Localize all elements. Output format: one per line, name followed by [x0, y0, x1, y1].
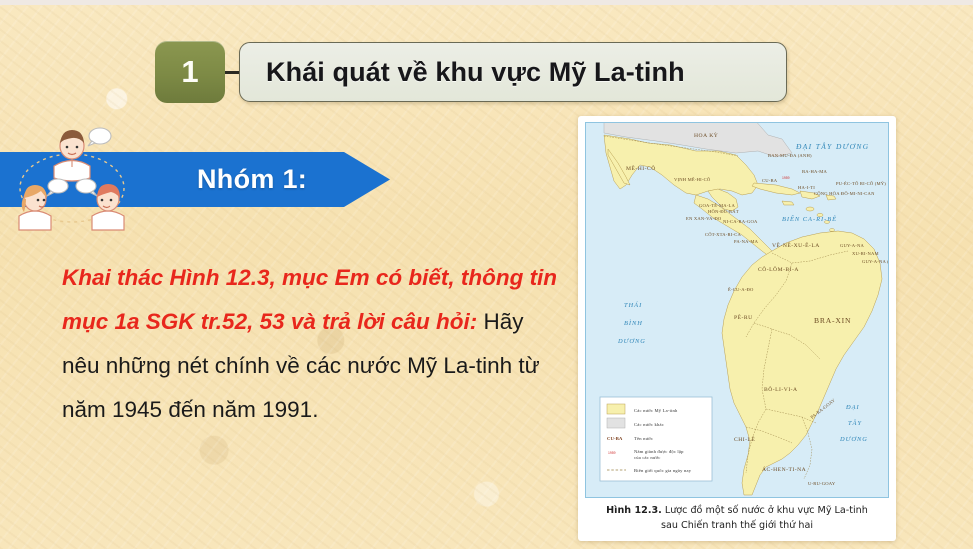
svg-text:Ê-CU-A-ĐO: Ê-CU-A-ĐO — [728, 287, 754, 292]
map-caption: Hình 12.3. Lược đồ một số nước ở khu vực… — [578, 500, 896, 541]
svg-text:VÊ-NÊ-XU-Ê-LA: VÊ-NÊ-XU-Ê-LA — [772, 241, 820, 249]
svg-text:BAN-MU-ĐA (ANH): BAN-MU-ĐA (ANH) — [768, 153, 812, 158]
map-legend: Các nước Mỹ La-tinh Các nước khác CU-BA … — [600, 397, 712, 481]
svg-text:BA-HA-MA: BA-HA-MA — [802, 169, 828, 174]
svg-text:DƯƠNG: DƯƠNG — [617, 338, 646, 345]
svg-text:CU-BA: CU-BA — [762, 178, 778, 183]
svg-text:NI-CA-RA-GOA: NI-CA-RA-GOA — [723, 219, 758, 224]
svg-text:PÊ-RU: PÊ-RU — [734, 313, 753, 321]
page-title: Khái quát về khu vực Mỹ La-tinh — [266, 57, 685, 88]
svg-text:của các nước: của các nước — [634, 455, 660, 460]
badge-connector-line — [225, 71, 239, 74]
section-number: 1 — [181, 54, 198, 90]
svg-text:CHI-LÊ: CHI-LÊ — [734, 435, 755, 443]
svg-text:GUY-A-NA: GUY-A-NA — [840, 243, 865, 248]
svg-text:Biên giới quốc gia ngày nay: Biên giới quốc gia ngày nay — [634, 468, 692, 473]
latin-america-map-image: .land{fill:#f7f0ad;stroke:#b99f52;stroke… — [585, 122, 889, 498]
svg-text:Các nước khác: Các nước khác — [634, 422, 664, 427]
svg-text:HOA KỲ: HOA KỲ — [694, 131, 718, 139]
svg-text:HA-I-TI: HA-I-TI — [798, 185, 815, 190]
svg-text:XU-RI-NAM: XU-RI-NAM — [852, 251, 879, 256]
svg-text:EN XAN-VA-ĐO: EN XAN-VA-ĐO — [686, 216, 722, 221]
svg-text:CÔ-LÔM-BI-A: CÔ-LÔM-BI-A — [758, 265, 799, 273]
svg-text:CỐT-XTA-RI-CA: CỐT-XTA-RI-CA — [705, 232, 741, 237]
svg-text:Năm giành được độc lập: Năm giành được độc lập — [634, 449, 684, 454]
task-paragraph: Khai thác Hình 12.3, mục Em có biết, thô… — [62, 256, 562, 432]
map-caption-line1: Lược đồ một số nước ở khu vực Mỹ La-tinh — [662, 505, 868, 516]
svg-text:ÁC-HEN-TI-NA: ÁC-HEN-TI-NA — [762, 465, 806, 473]
section-title-box: Khái quát về khu vực Mỹ La-tinh — [239, 42, 787, 102]
svg-text:1959: 1959 — [782, 176, 790, 180]
map-caption-figure: Hình 12.3. — [606, 505, 662, 516]
svg-text:HÔN-ĐU-RÁT: HÔN-ĐU-RÁT — [708, 209, 739, 214]
section-number-badge: 1 — [155, 41, 225, 103]
svg-text:BRA-XIN: BRA-XIN — [814, 316, 851, 325]
svg-text:BIỂN CA-RI-BÊ: BIỂN CA-RI-BÊ — [782, 215, 837, 223]
svg-text:VỊNH MÊ-HI-CÔ: VỊNH MÊ-HI-CÔ — [674, 177, 711, 182]
svg-text:Tên nước: Tên nước — [634, 436, 653, 441]
svg-text:CỘNG HÒA ĐÔ-MI-NI-CAN: CỘNG HÒA ĐÔ-MI-NI-CAN — [814, 191, 875, 196]
svg-text:MÊ-HI-CÔ: MÊ-HI-CÔ — [626, 164, 656, 172]
svg-text:PU-ÉC-TÔ RI-CÔ (MỸ): PU-ÉC-TÔ RI-CÔ (MỸ) — [836, 181, 886, 186]
group-banner-label: Nhóm 1: — [197, 152, 307, 207]
svg-text:U-RU-GOAY: U-RU-GOAY — [808, 481, 836, 486]
svg-text:BÔ-LI-VI-A: BÔ-LI-VI-A — [764, 385, 798, 393]
slide-header: 1 Khái quát về khu vực Mỹ La-tinh — [155, 41, 787, 103]
students-discussing-icon — [8, 122, 136, 232]
svg-text:TÂY: TÂY — [848, 419, 862, 427]
map-caption-line2: sau Chiến tranh thế giới thứ hai — [661, 520, 813, 531]
svg-text:GOA-TÊ-MA-LA: GOA-TÊ-MA-LA — [699, 203, 736, 208]
svg-text:CU-BA: CU-BA — [607, 436, 623, 441]
svg-text:Các nước Mỹ La-tinh: Các nước Mỹ La-tinh — [634, 408, 678, 413]
svg-text:BÌNH: BÌNH — [624, 319, 643, 327]
svg-text:ĐẠI: ĐẠI — [845, 404, 860, 411]
svg-text:THÁI: THÁI — [624, 301, 642, 309]
svg-text:PA-NA-MA: PA-NA-MA — [734, 239, 759, 244]
svg-text:GUY-A-NA (PHÁP): GUY-A-NA (PHÁP) — [862, 259, 888, 264]
map-figure-card: .land{fill:#f7f0ad;stroke:#b99f52;stroke… — [578, 116, 896, 541]
svg-text:DƯƠNG: DƯƠNG — [839, 436, 868, 443]
svg-text:ĐẠI TÂY DƯƠNG: ĐẠI TÂY DƯƠNG — [795, 141, 869, 151]
svg-text:1959: 1959 — [608, 451, 616, 455]
